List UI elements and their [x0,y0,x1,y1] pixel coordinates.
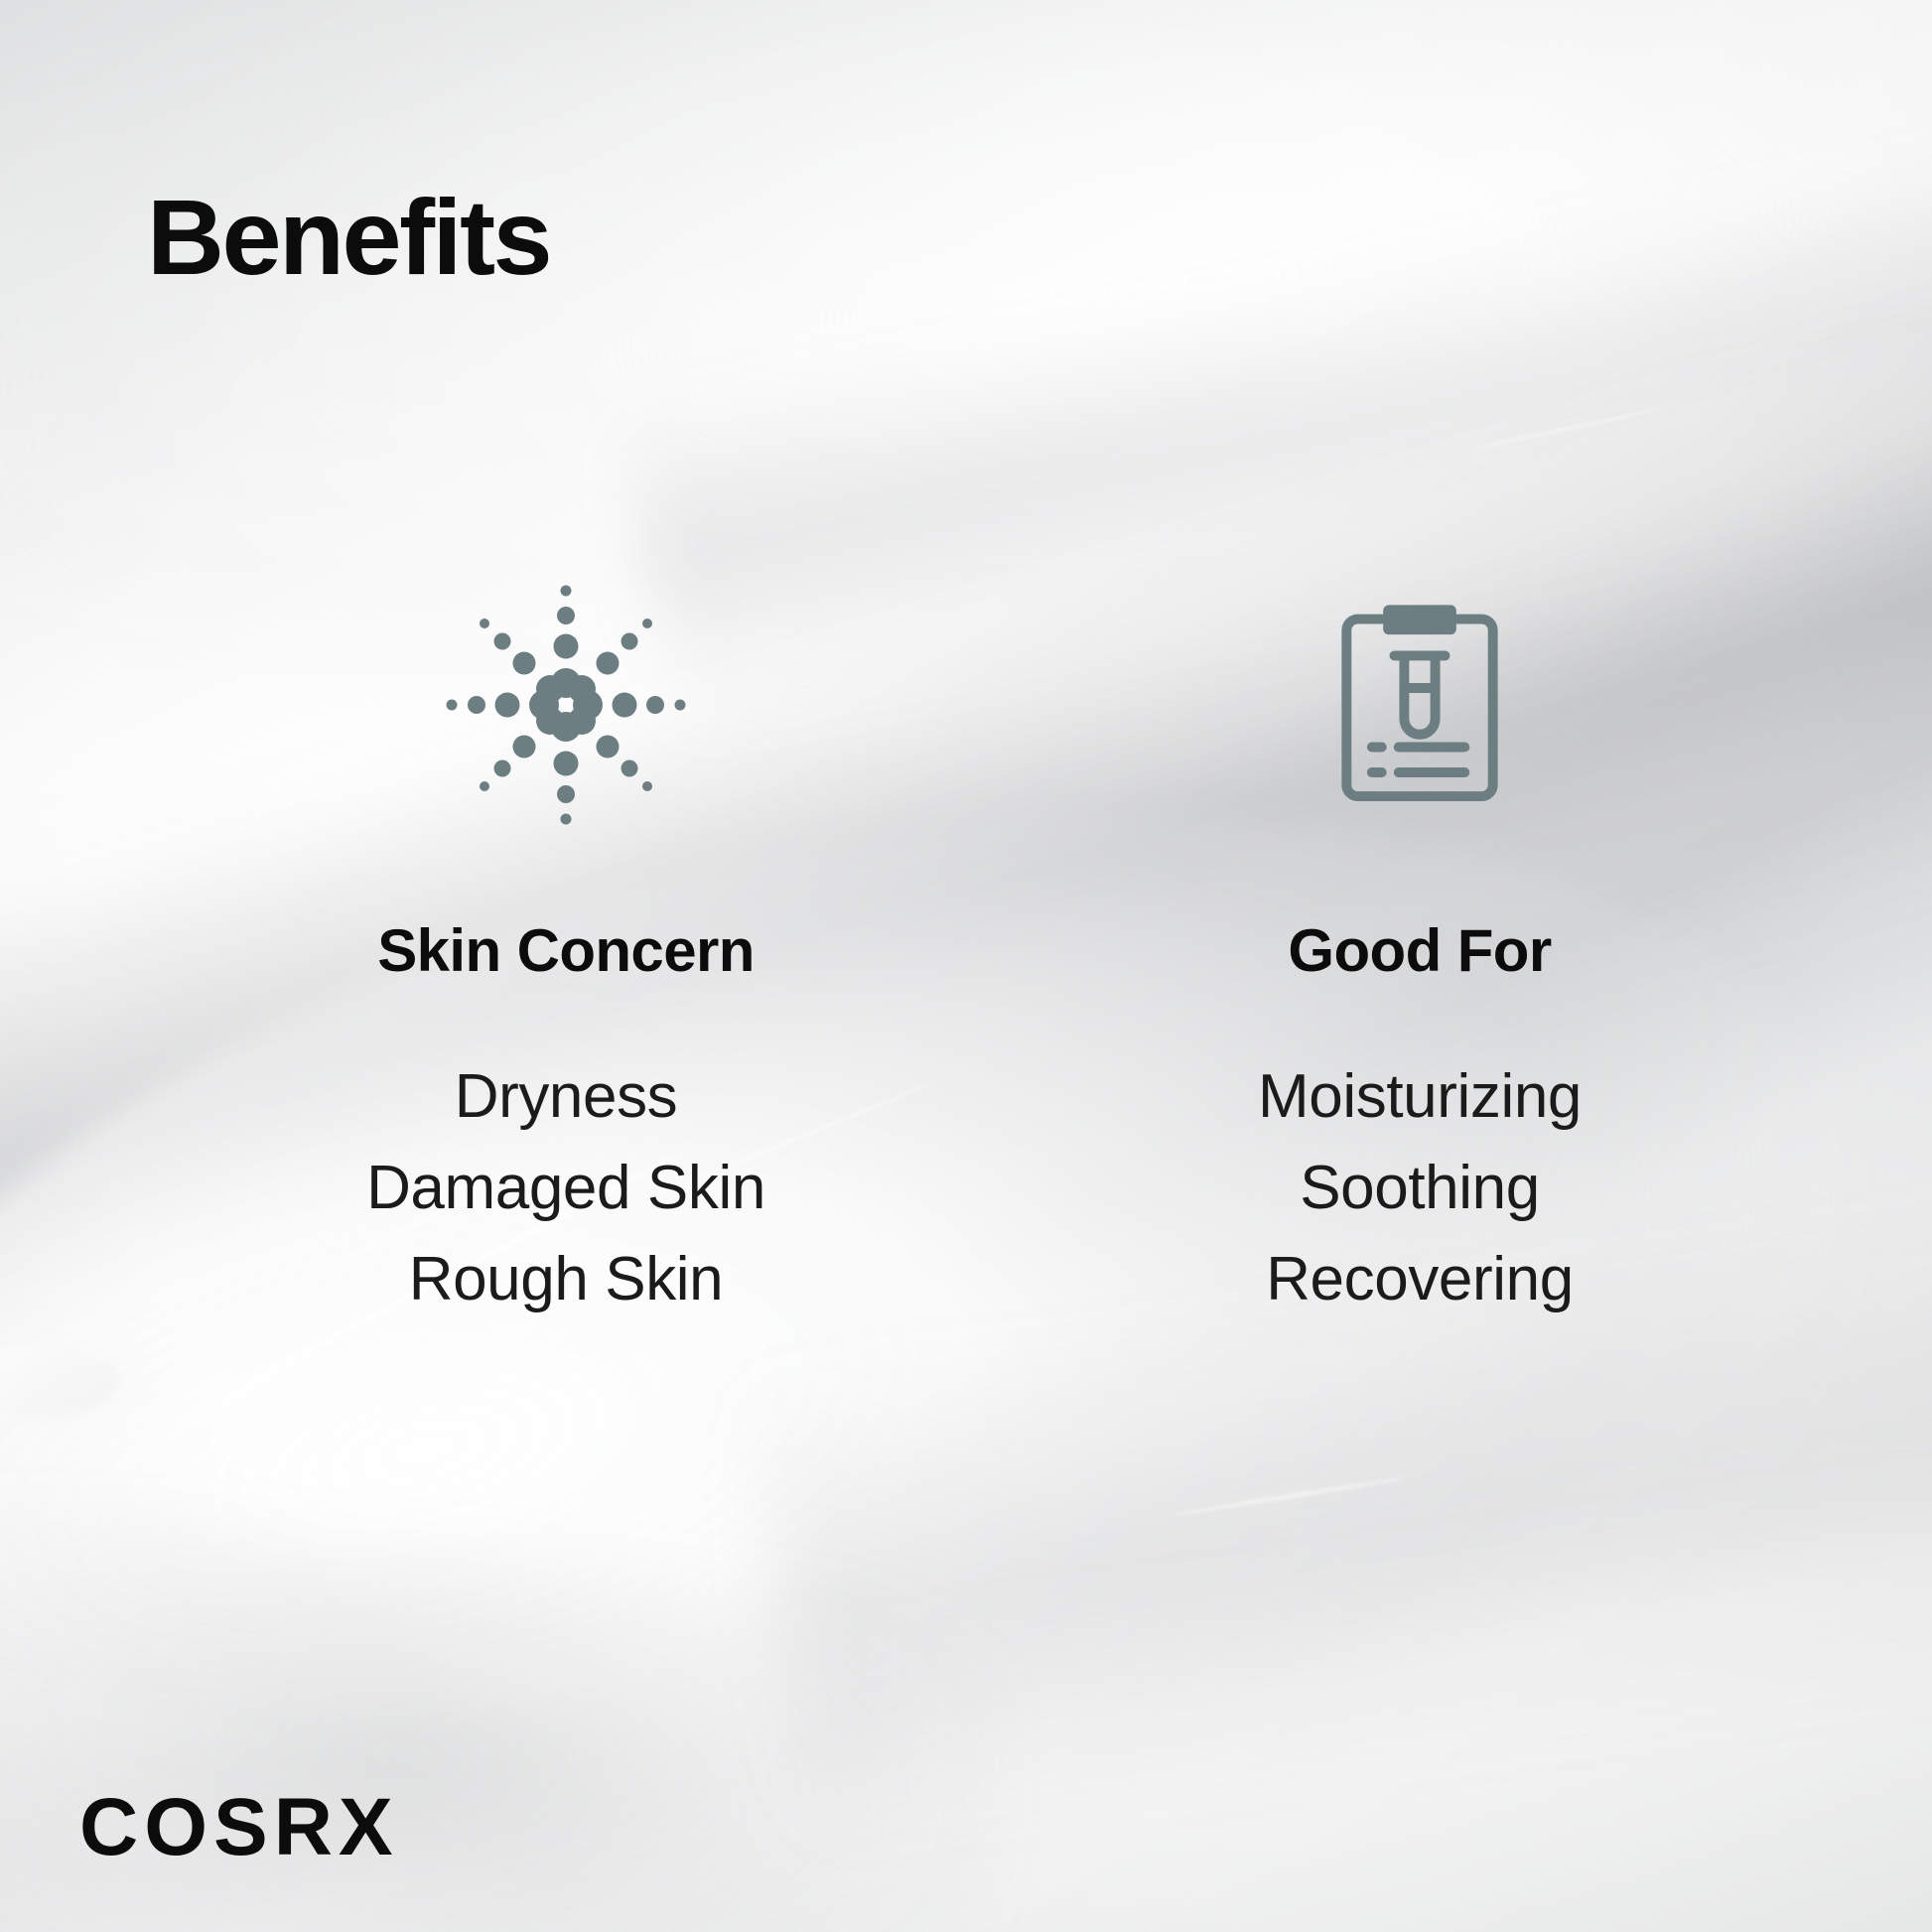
list-item: Moisturizing [1258,1066,1582,1128]
column-heading-good-for: Good For [1288,921,1551,981]
benefit-column-skin-concern: Skin Concern Dryness Damaged Skin Rough … [238,556,894,1311]
benefit-list-skin-concern: Dryness Damaged Skin Rough Skin [366,1066,765,1311]
brand-logo-cosrx: COSRX [79,1787,399,1868]
clipboard-test-tube-icon [1335,601,1504,809]
list-item: Dryness [455,1066,678,1128]
skin-concern-icon-wrap [442,556,690,854]
page-title: Benefits [147,181,550,293]
benefit-column-good-for: Good For Moisturizing Soothing Recoverin… [1092,556,1747,1311]
benefits-infographic: Benefits [0,0,1932,1932]
column-heading-skin-concern: Skin Concern [377,921,755,981]
list-item: Damaged Skin [366,1158,765,1219]
good-for-icon-wrap [1335,556,1504,854]
benefit-list-good-for: Moisturizing Soothing Recovering [1258,1066,1582,1311]
list-item: Recovering [1266,1249,1574,1311]
list-item: Rough Skin [409,1249,724,1311]
list-item: Soothing [1300,1158,1540,1219]
starburst-dots-icon [442,581,690,829]
